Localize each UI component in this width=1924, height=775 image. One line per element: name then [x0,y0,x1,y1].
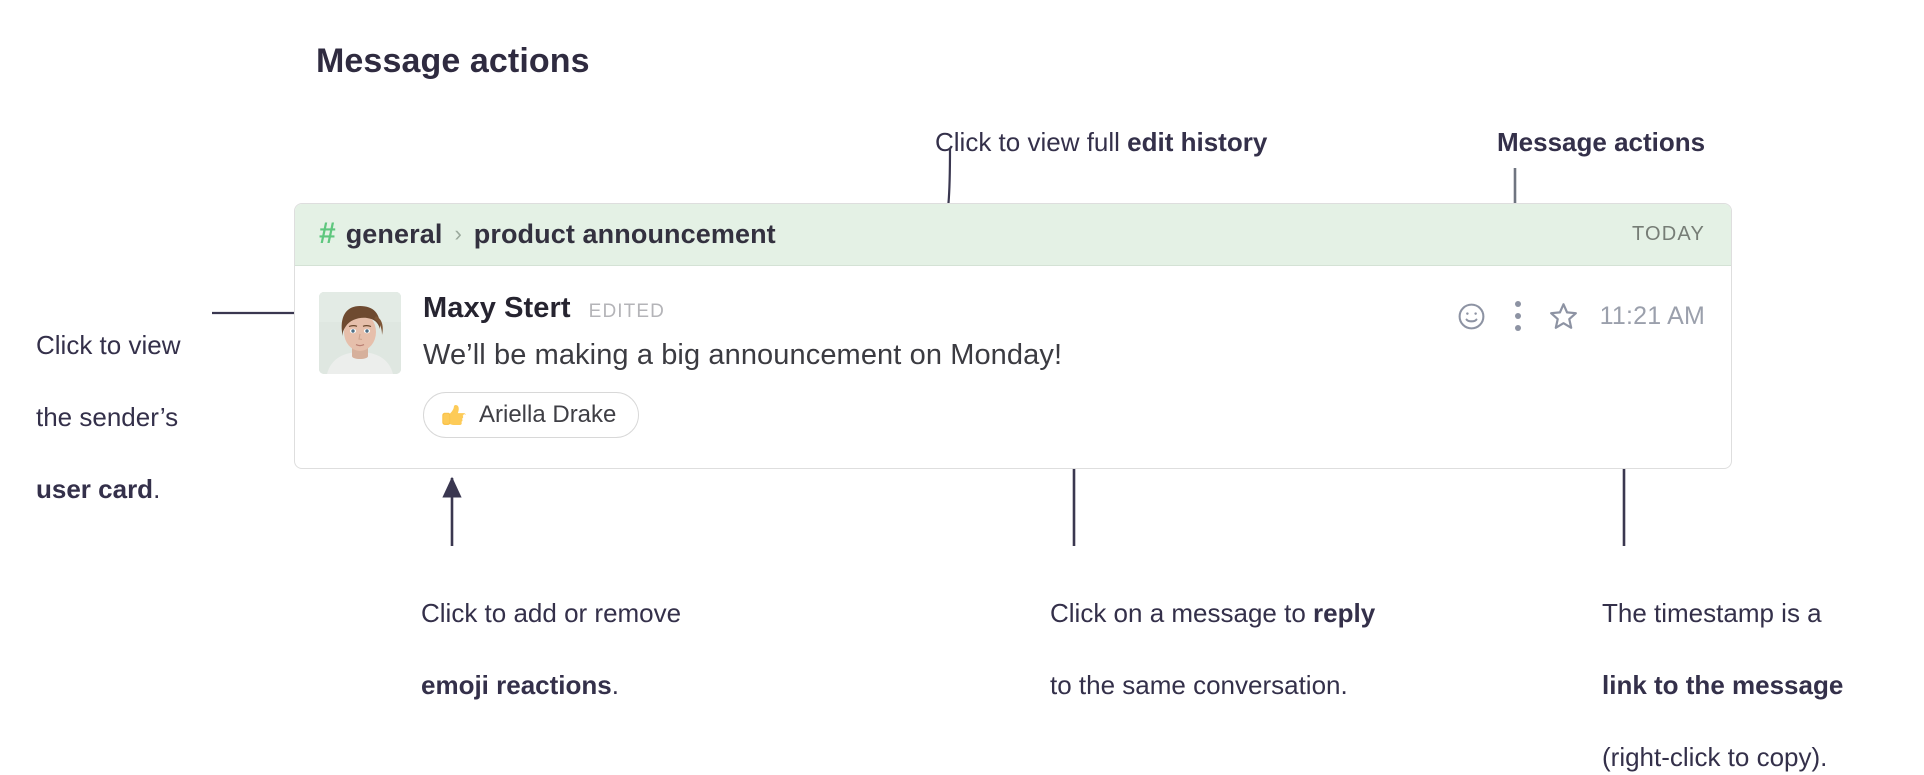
annotation-edit-history-line1-prefix: Click to view full [935,127,1127,157]
annotation-timestamp-line3: (right-click to copy). [1602,742,1827,772]
sender-name[interactable]: Maxy Stert [423,292,571,325]
dot-1 [1515,301,1521,307]
avatar[interactable] [319,292,401,374]
annotation-user-card-line3-suffix: . [153,474,160,504]
annotation-edit-history-line1-bold: edit history [1127,127,1267,157]
annotation-emoji-reactions: Click to add or remove emoji reactions. [421,559,681,703]
annotation-reply-line1-prefix: Click on a message to [1050,598,1313,628]
annotation-user-card-line1: Click to view [36,330,180,360]
edited-badge[interactable]: EDITED [589,301,665,323]
message-text[interactable]: We’ll be making a big announcement on Mo… [423,339,1705,372]
reaction-label: Ariella Drake [479,401,616,429]
annotation-reply: Click on a message to reply to the same … [1050,559,1375,703]
annotation-timestamp-line1: The timestamp is a [1602,598,1822,628]
channel-name[interactable]: general [346,219,443,250]
dot-2 [1515,313,1521,319]
reaction-pill[interactable]: Ariella Drake [423,392,639,438]
annotation-user-card-line3-bold: user card [36,474,153,504]
annotation-user-card-line2: the sender’s [36,402,178,432]
thumbs-up-glyph [440,402,467,429]
page-title: Message actions [316,42,590,81]
emoji-reaction-icon[interactable] [1456,301,1487,332]
message-timestamp[interactable]: 11:21 AM [1600,302,1705,331]
vertical-dots-glyph [1515,298,1521,334]
conversation-header: # general › product announcement TODAY [295,204,1731,266]
thumbs-up-icon [440,402,467,429]
star-icon[interactable] [1547,300,1580,333]
annotation-reply-line1-bold: reply [1313,598,1375,628]
smiley-glyph [1456,301,1487,332]
message-actions-row: 11:21 AM [1456,298,1705,334]
dot-3 [1515,325,1521,331]
message-card: # general › product announcement TODAY [294,203,1732,469]
avatar-image [319,292,401,374]
annotation-timestamp: The timestamp is a link to the message (… [1602,559,1843,775]
topic-name[interactable]: product announcement [474,219,776,250]
annotation-user-card: Click to view the sender’s user card. [36,291,180,507]
day-label: TODAY [1632,223,1705,246]
chevron-right-icon: › [454,221,461,247]
annotation-emoji-reactions-line1: Click to add or remove [421,598,681,628]
hash-icon: # [319,219,336,249]
message-body[interactable]: Maxy Stert EDITED We’ll be making a big … [295,266,1731,468]
annotation-message-actions-line1-bold: Message actions [1497,127,1705,157]
message-actions-menu-icon[interactable] [1515,298,1521,334]
star-glyph [1547,300,1580,333]
